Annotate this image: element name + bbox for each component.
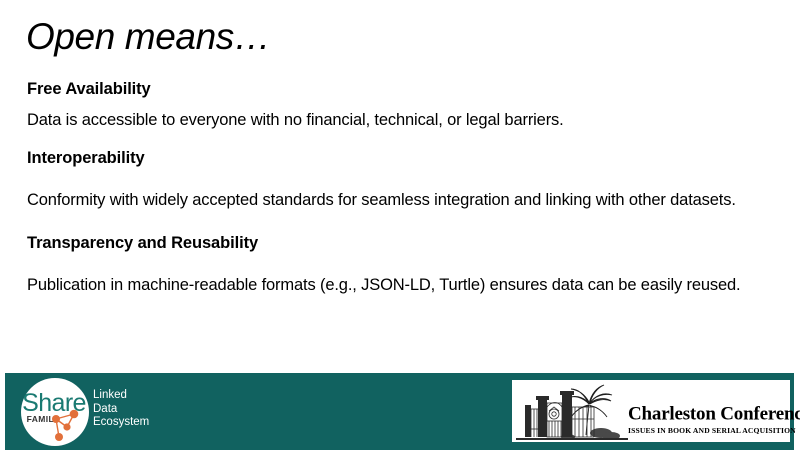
tagline-line-3: Ecosystem xyxy=(93,416,149,430)
share-family-logo-icon: Share FAMILY xyxy=(20,377,90,447)
slide: Open means… Free Availability Data is ac… xyxy=(0,0,800,450)
block-body: Conformity with widely accepted standard… xyxy=(27,183,775,218)
charleston-gate-palm-icon xyxy=(516,381,628,441)
spacer xyxy=(27,254,775,268)
block-body: Publication in machine-readable formats … xyxy=(27,268,775,303)
block-heading: Interoperability xyxy=(27,147,775,169)
page-title: Open means… xyxy=(26,14,270,60)
charleston-name: Charleston Conference xyxy=(628,403,800,424)
tagline-line-2: Data xyxy=(93,403,149,417)
block-heading: Free Availability xyxy=(27,78,775,100)
spacer xyxy=(27,131,775,147)
block-body: Data is accessible to everyone with no f… xyxy=(27,109,775,131)
footer-bar: Share FAMILY Linked Data Ecosyst xyxy=(5,373,794,450)
share-family-tagline: Linked Data Ecosystem xyxy=(93,389,149,430)
block-heading: Transparency and Reusability xyxy=(27,232,775,254)
content-block-interoperability: Interoperability Conformity with widely … xyxy=(27,147,775,218)
content-block-free-availability: Free Availability Data is accessible to … xyxy=(27,78,775,131)
charleston-subtitle: ISSUES IN BOOK AND SERIAL ACQUISITION xyxy=(628,425,788,436)
spacer xyxy=(27,169,775,183)
charleston-conference-logo: Charleston Conference™ ISSUES IN BOOK AN… xyxy=(512,380,790,442)
spacer xyxy=(27,100,775,109)
charleston-wordmark: Charleston Conference™ ISSUES IN BOOK AN… xyxy=(628,400,788,436)
charleston-name-row: Charleston Conference™ xyxy=(628,400,788,424)
tagline-line-1: Linked xyxy=(93,389,149,403)
content-block-transparency-reusability: Transparency and Reusability Publication… xyxy=(27,232,775,303)
slide-content: Free Availability Data is accessible to … xyxy=(27,78,775,303)
spacer xyxy=(27,218,775,232)
share-family-logo: Share FAMILY xyxy=(20,377,90,447)
